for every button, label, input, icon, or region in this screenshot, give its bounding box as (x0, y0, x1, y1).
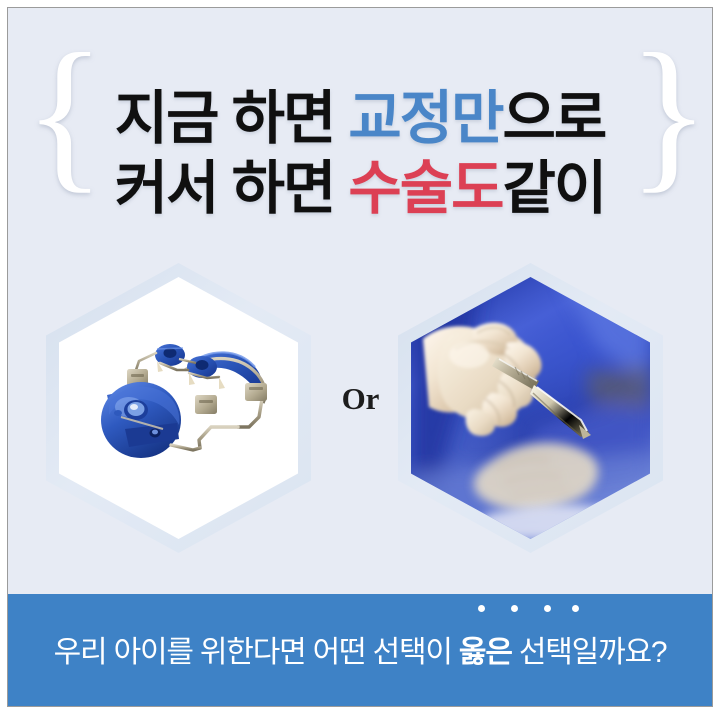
banner-dot-4 (572, 605, 579, 612)
headline-block: { } 지금 하면 교정만으로 커서 하면 수술도같이 (8, 63, 712, 228)
or-label: Or (318, 381, 403, 417)
comparison-row: Or (8, 263, 712, 563)
banner-text-part2: 선택일까요? (512, 636, 667, 669)
option-right-surgery[interactable] (398, 263, 663, 553)
headline-line-2-part2: 같이 (503, 156, 606, 221)
banner-text-part1: 우리 아이를 위한다면 어떤 선택이 (54, 636, 459, 669)
banner-dot-1 (478, 605, 485, 612)
poster-root: { } 지금 하면 교정만으로 커서 하면 수술도같이 (0, 0, 720, 714)
poster-frame: { } 지금 하면 교정만으로 커서 하면 수술도같이 (7, 7, 713, 707)
option-left-orthodontic[interactable] (46, 263, 311, 553)
banner-dots (474, 605, 584, 617)
headline-line-2-highlight: 수술도 (348, 156, 502, 221)
headline-line-2-part1: 커서 하면 (115, 156, 349, 221)
banner-question-text: 우리 아이를 위한다면 어떤 선택이 옳은 선택일까요? (8, 627, 712, 671)
banner-dot-2 (511, 605, 518, 612)
headline-line-2: 커서 하면 수술도같이 (8, 141, 712, 225)
bottom-banner: 우리 아이를 위한다면 어떤 선택이 옳은 선택일까요? (8, 594, 712, 706)
banner-dot-3 (544, 605, 551, 612)
banner-text-emphasis: 옳은 (459, 636, 512, 669)
